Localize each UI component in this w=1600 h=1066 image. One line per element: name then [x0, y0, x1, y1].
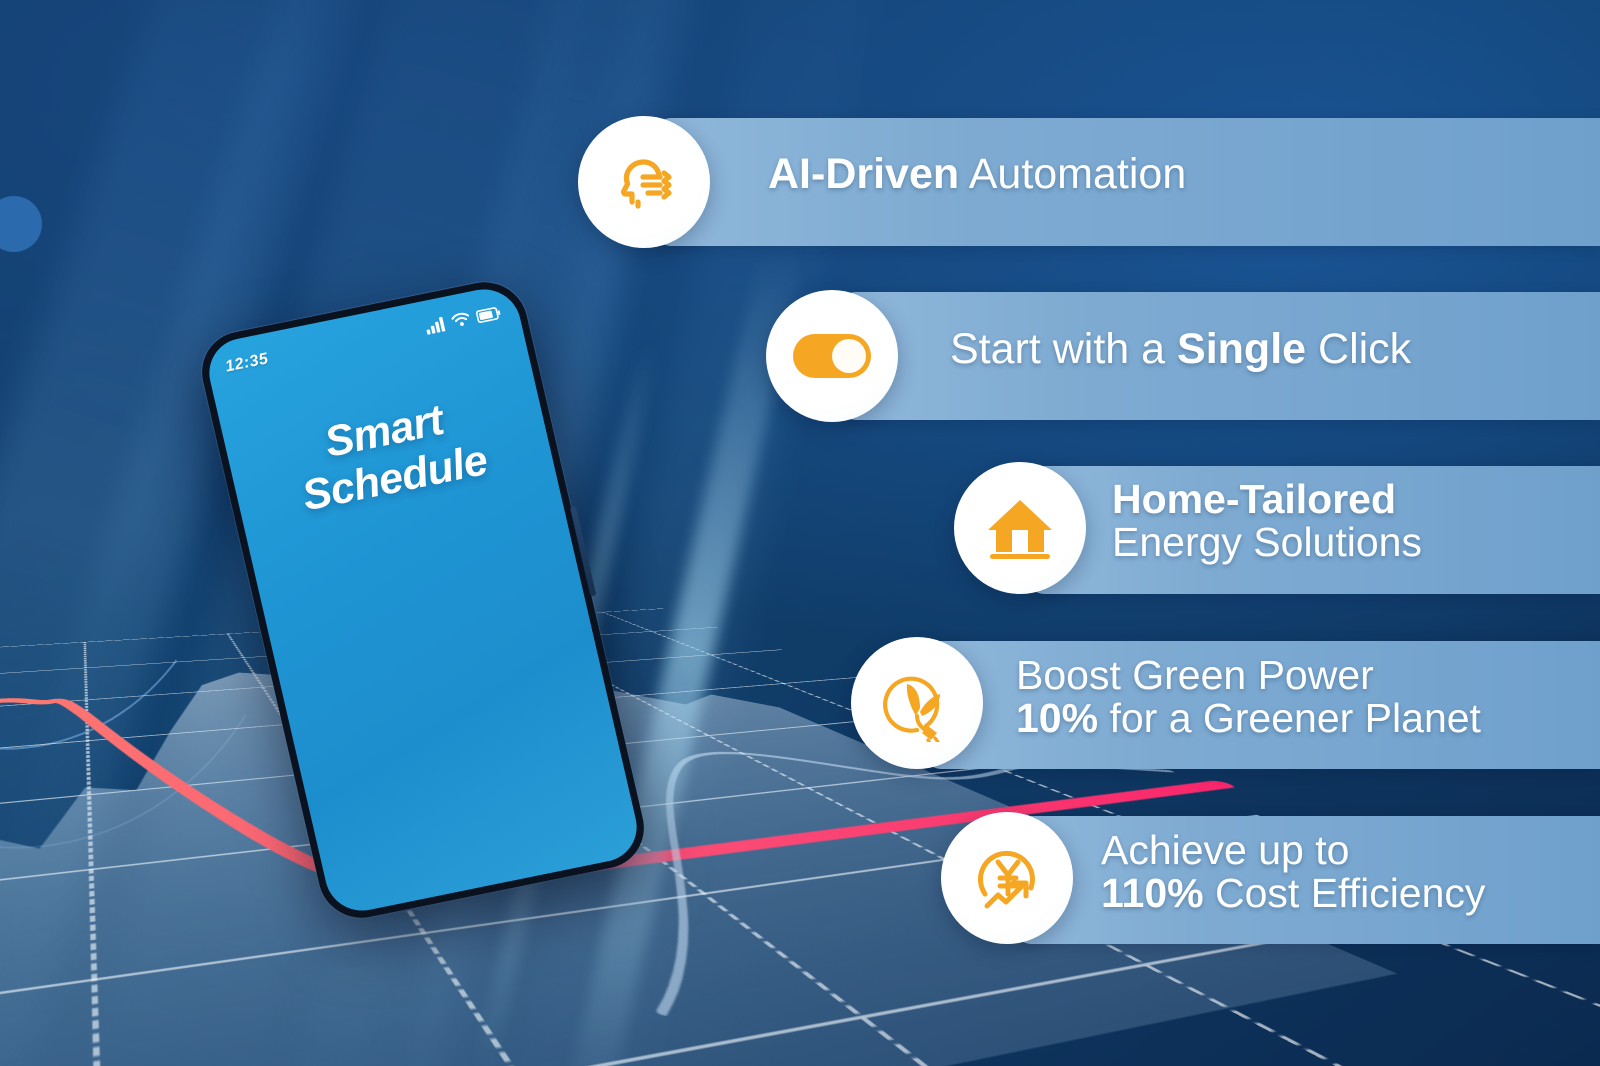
- ai-head-icon-badge: [578, 116, 710, 248]
- feature-label-4-line-1: Boost Green Power: [1016, 654, 1481, 697]
- toggle-switch-icon-badge: [766, 290, 898, 422]
- feature-label-2: Start with a Single Click: [950, 327, 1411, 373]
- yen-growth-icon-badge: [941, 812, 1073, 944]
- feature-label-5-bold: 110%: [1101, 870, 1204, 916]
- feature-list: AI-Driven Automation Start with a Single…: [0, 0, 1600, 1066]
- feature-label-5-line-1: Achieve up to: [1101, 829, 1485, 872]
- feature-label-3-line-2: Energy Solutions: [1112, 521, 1422, 564]
- yen-growth-icon: [969, 840, 1045, 916]
- feature-label-5-rest: Cost Efficiency: [1204, 870, 1486, 916]
- feature-label-4-bold: 10%: [1016, 695, 1098, 741]
- feature-label-1-bold: AI-Driven: [768, 150, 959, 198]
- feature-label-2-a: Start with a: [950, 325, 1177, 373]
- home-icon-badge: [954, 462, 1086, 594]
- eco-plug-leaf-icon-badge: [851, 637, 983, 769]
- toggle-switch-icon[interactable]: [791, 332, 873, 380]
- feature-label-3-line-1: Home-Tailored: [1112, 478, 1422, 521]
- feature-label-1: AI-Driven Automation: [768, 152, 1186, 198]
- feature-label-5: Achieve up to 110% Cost Efficiency: [1101, 829, 1485, 916]
- feature-label-4: Boost Green Power 10% for a Greener Plan…: [1016, 654, 1481, 741]
- home-icon: [982, 492, 1058, 564]
- feature-label-3: Home-Tailored Energy Solutions: [1112, 478, 1422, 565]
- infographic-canvas: 12:35: [0, 0, 1600, 1066]
- eco-plug-leaf-icon: [880, 664, 954, 742]
- ai-head-icon: [607, 145, 681, 219]
- feature-label-1-rest: Automation: [959, 150, 1186, 198]
- feature-label-4-rest: for a Greener Planet: [1098, 695, 1481, 741]
- feature-label-2-bold: Single: [1177, 325, 1306, 373]
- feature-label-2-c: Click: [1306, 325, 1411, 373]
